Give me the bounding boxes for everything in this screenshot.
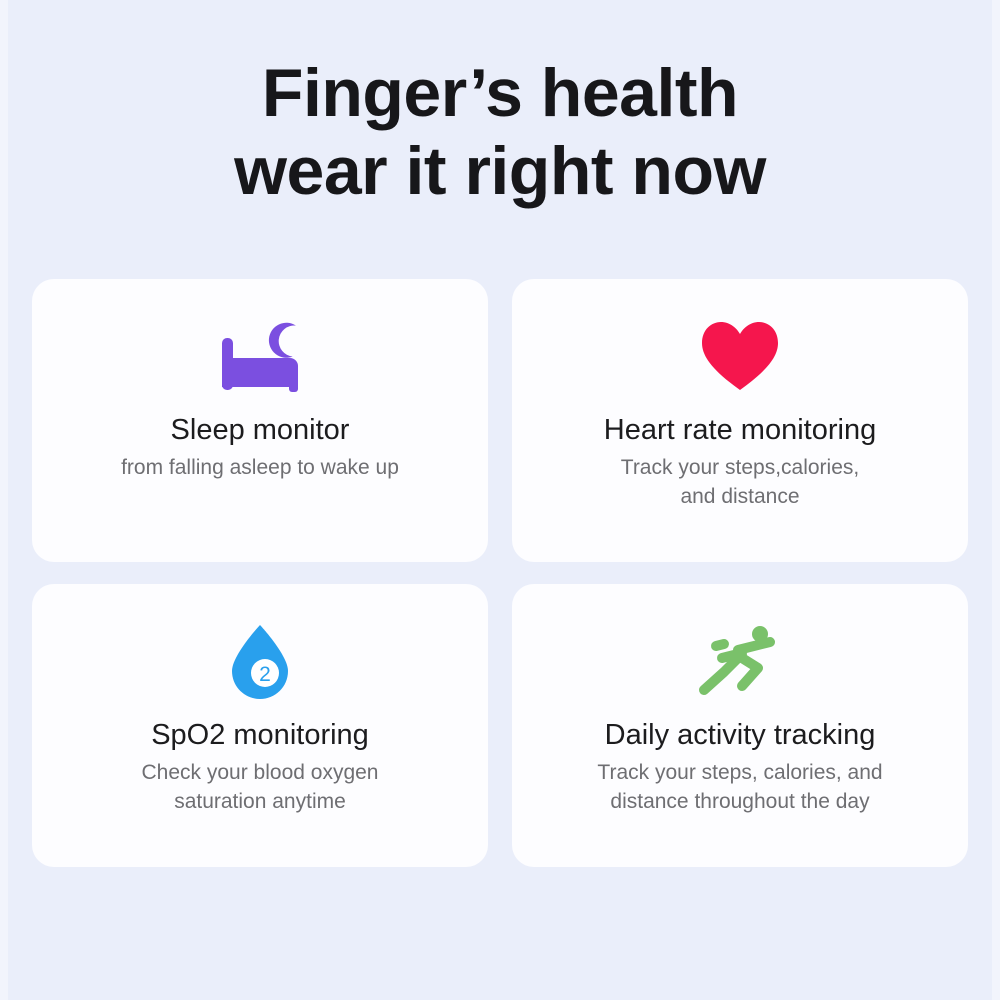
promo-page: Finger’s health wear it right now Sle — [0, 0, 1000, 1000]
card-title: Daily activity tracking — [605, 718, 876, 752]
running-person-icon — [694, 614, 786, 710]
card-description: Track your steps, calories, and distance… — [583, 758, 896, 816]
page-headline: Finger’s health wear it right now — [0, 54, 1000, 210]
heart-icon — [700, 309, 780, 405]
feature-card-daily-activity[interactable]: Daily activity tracking Track your steps… — [512, 584, 968, 867]
feature-card-grid: Sleep monitor from falling asleep to wak… — [32, 279, 968, 867]
feature-card-sleep-monitor[interactable]: Sleep monitor from falling asleep to wak… — [32, 279, 488, 562]
card-title: Heart rate monitoring — [604, 413, 876, 447]
card-description: Track your steps,calories, and distance — [607, 453, 873, 511]
bed-moon-sleep-icon — [212, 309, 308, 405]
card-description: from falling asleep to wake up — [107, 453, 413, 482]
feature-card-heart-rate[interactable]: Heart rate monitoring Track your steps,c… — [512, 279, 968, 562]
o2-badge-number: 2 — [259, 663, 271, 686]
card-title: Sleep monitor — [171, 413, 350, 447]
water-drop-o2-icon: 2 — [226, 614, 294, 710]
card-description: Check your blood oxygen saturation anyti… — [128, 758, 393, 816]
card-title: SpO2 monitoring — [151, 718, 369, 752]
feature-card-spo2[interactable]: 2 SpO2 monitoring Check your blood oxyge… — [32, 584, 488, 867]
